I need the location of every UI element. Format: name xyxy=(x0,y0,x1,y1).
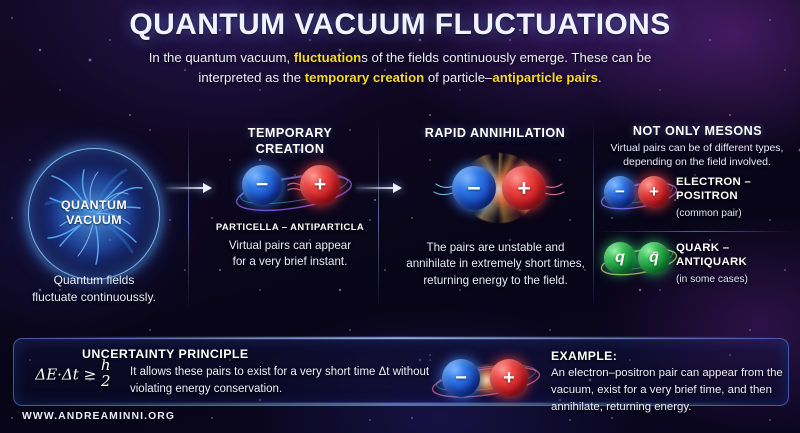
quantum-vacuum-sphere: QUANTUM VACUUM xyxy=(26,146,162,282)
heading-not-only-mesons: NOT ONLY MESONS xyxy=(600,124,795,140)
annihilation-wave-trails xyxy=(428,150,568,226)
sphere-electron-negative: − xyxy=(452,166,496,210)
text-temporary-creation: Virtual pairs can appear for a very brie… xyxy=(203,238,377,271)
page-subtitle: In the quantum vacuum, fluctuations of t… xyxy=(120,48,680,89)
sphere-particle-negative: − xyxy=(242,165,282,205)
sphere-example-positron: + xyxy=(490,359,528,397)
subtitle-highlight-fluctuations: fluctuation xyxy=(294,50,361,65)
vacuum-label: QUANTUM VACUUM xyxy=(26,198,162,228)
formula-left-side: ΔE·Δt ≥ xyxy=(35,365,96,383)
vacuum-caption: Quantum fields fluctuate continuoussly. xyxy=(4,272,184,306)
heading-temporary-creation: TEMPORARY CREATION xyxy=(205,126,375,157)
panel-glow-top xyxy=(13,337,787,339)
subtitle-text-3: of particle– xyxy=(424,70,492,85)
sphere-antiparticle-positive: + xyxy=(300,165,340,205)
sphere-positron: + xyxy=(638,176,670,208)
divider-vertical-2 xyxy=(378,120,379,310)
sublabel-electron-positron: (common pair) xyxy=(676,208,742,219)
subtitle-highlight-temporary-creation: temporary creation xyxy=(305,70,424,85)
vacuum-label-line2: VACUUM xyxy=(26,213,162,228)
particle-pair-electron-positron: − + xyxy=(598,172,680,214)
sphere-antiquark: q̄ xyxy=(638,242,670,274)
particle-pair-example: − + xyxy=(428,352,548,406)
label-quark-antiquark: QUARK – ANTIQUARK xyxy=(676,242,794,270)
subtitle-text-4: . xyxy=(598,70,602,85)
text-uncertainty-principle: It allows these pairs to exist for a ver… xyxy=(130,364,430,399)
sphere-positron-positive: + xyxy=(502,166,546,210)
infographic-root: QUANTUM VACUUM FLUCTUATIONS In the quant… xyxy=(0,0,800,433)
arrow-head xyxy=(393,183,402,193)
text-example: An electron–positron pair can appear fro… xyxy=(551,365,789,416)
sphere-quark: q xyxy=(604,242,636,274)
arrow-shaft xyxy=(166,187,204,189)
subtitle-text-1: In the quantum vacuum, xyxy=(149,50,294,65)
heading-uncertainty-principle: UNCERTAINTY PRINCIPLE xyxy=(82,347,249,361)
subtitle-highlight-antiparticle-pairs: antiparticle pairs xyxy=(492,70,598,85)
formula-fraction: h 2 xyxy=(101,358,111,389)
particle-pair-quark-antiquark: q q̄ xyxy=(598,238,680,280)
particle-pair-annihilation: − + xyxy=(428,150,568,226)
text-not-only-mesons: Virtual pairs can be of different types,… xyxy=(597,141,797,170)
caption-particle-antiparticle: PARTICELLA – ANTIPARTICLA xyxy=(205,221,375,232)
page-title: QUANTUM VACUUM FLUCTUATIONS xyxy=(0,8,800,42)
text-rapid-annihilation: The pairs are unstable and annihilate in… xyxy=(393,240,598,289)
arrow-shaft xyxy=(356,187,394,189)
uncertainty-formula: ΔE·Δt ≥ h 2 xyxy=(18,358,128,389)
footer-website: WWW.ANDREAMINNI.ORG xyxy=(22,411,175,422)
particle-pair-creation: − + xyxy=(232,163,356,213)
divider-horizontal-mesons xyxy=(598,231,793,232)
arrow-head xyxy=(203,183,212,193)
sphere-example-electron: − xyxy=(442,359,480,397)
divider-vertical-1 xyxy=(188,120,189,310)
sublabel-quark-antiquark: (in some cases) xyxy=(676,274,748,285)
sphere-electron: − xyxy=(604,176,636,208)
arrow-creation-to-annihilation xyxy=(356,183,402,193)
label-electron-positron: ELECTRON – POSITRON xyxy=(676,176,794,204)
vacuum-label-line1: QUANTUM xyxy=(26,198,162,213)
heading-example: EXAMPLE: xyxy=(551,349,617,363)
formula-denominator: 2 xyxy=(101,374,111,389)
heading-rapid-annihilation: RAPID ANNIHILATION xyxy=(400,126,590,142)
arrow-vacuum-to-creation xyxy=(166,183,212,193)
